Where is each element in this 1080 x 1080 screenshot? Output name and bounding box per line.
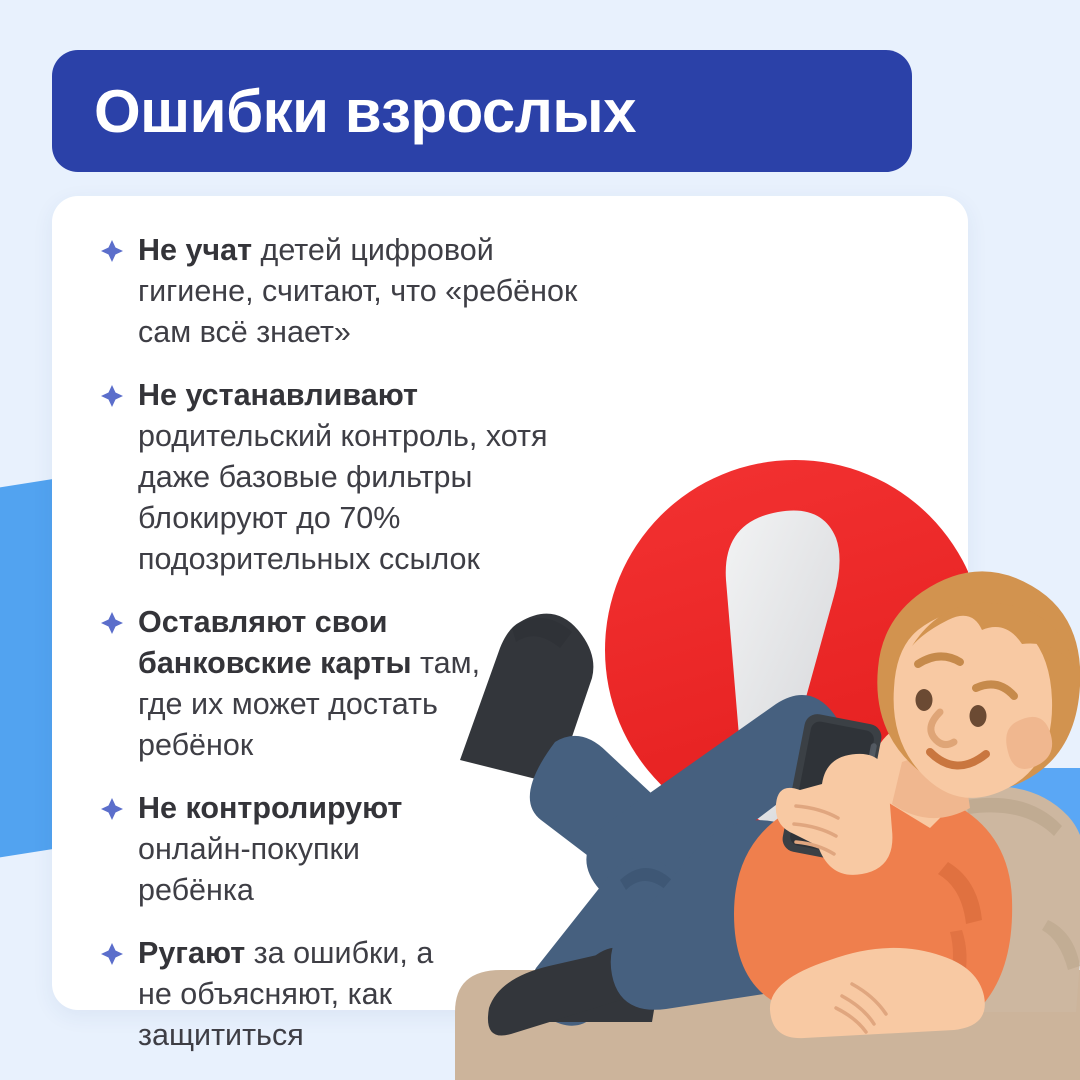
list-item: Ругают за ошибки, а не объясняют, как за… <box>100 933 612 1056</box>
list-item-text: Оставляют свои банковские карты там, где… <box>138 602 508 766</box>
boy-eyebrow-right <box>976 684 1014 696</box>
decorative-blue-accent-right <box>985 768 1080 854</box>
list-item-bold: Ругают <box>138 936 245 970</box>
list-item-text: Не контролируют онлайн-покупки ребёнка <box>138 788 468 911</box>
diamond-bullet-icon <box>100 942 124 966</box>
list-item-bold: Не учат <box>138 233 252 267</box>
list-item-bold: Не контролируют <box>138 791 402 825</box>
list-item: Оставляют свои банковские карты там, где… <box>100 602 612 766</box>
list-item: Не устанавливают родительский контроль, … <box>100 375 612 580</box>
list-item-text: Не устанавливают родительский контроль, … <box>138 375 608 580</box>
list-item-bold: Не устанавливают <box>138 378 418 412</box>
list-item-rest: онлайн-покупки ребёнка <box>138 832 360 907</box>
list-item-text: Не учат детей цифровой гигиене, считают,… <box>138 230 608 353</box>
boy-ear <box>1006 717 1052 769</box>
diamond-bullet-icon <box>100 797 124 821</box>
infographic-page: Ошибки взрослых <box>0 0 1080 1080</box>
mistakes-list: Не учат детей цифровой гигиене, считают,… <box>52 196 612 1078</box>
list-item-bold: Оставляют свои банковские карты <box>138 605 412 680</box>
list-item: Не контролируют онлайн-покупки ребёнка <box>100 788 612 911</box>
diamond-bullet-icon <box>100 239 124 263</box>
title-banner: Ошибки взрослых <box>52 50 912 172</box>
list-item-rest: родительский контроль, хотя даже базовые… <box>138 419 548 576</box>
diamond-bullet-icon <box>100 611 124 635</box>
list-item-text: Ругают за ошибки, а не объясняют, как за… <box>138 933 468 1056</box>
boy-eye-right <box>970 705 987 727</box>
diamond-bullet-icon <box>100 384 124 408</box>
list-item: Не учат детей цифровой гигиене, считают,… <box>100 230 612 353</box>
page-title: Ошибки взрослых <box>94 77 636 146</box>
